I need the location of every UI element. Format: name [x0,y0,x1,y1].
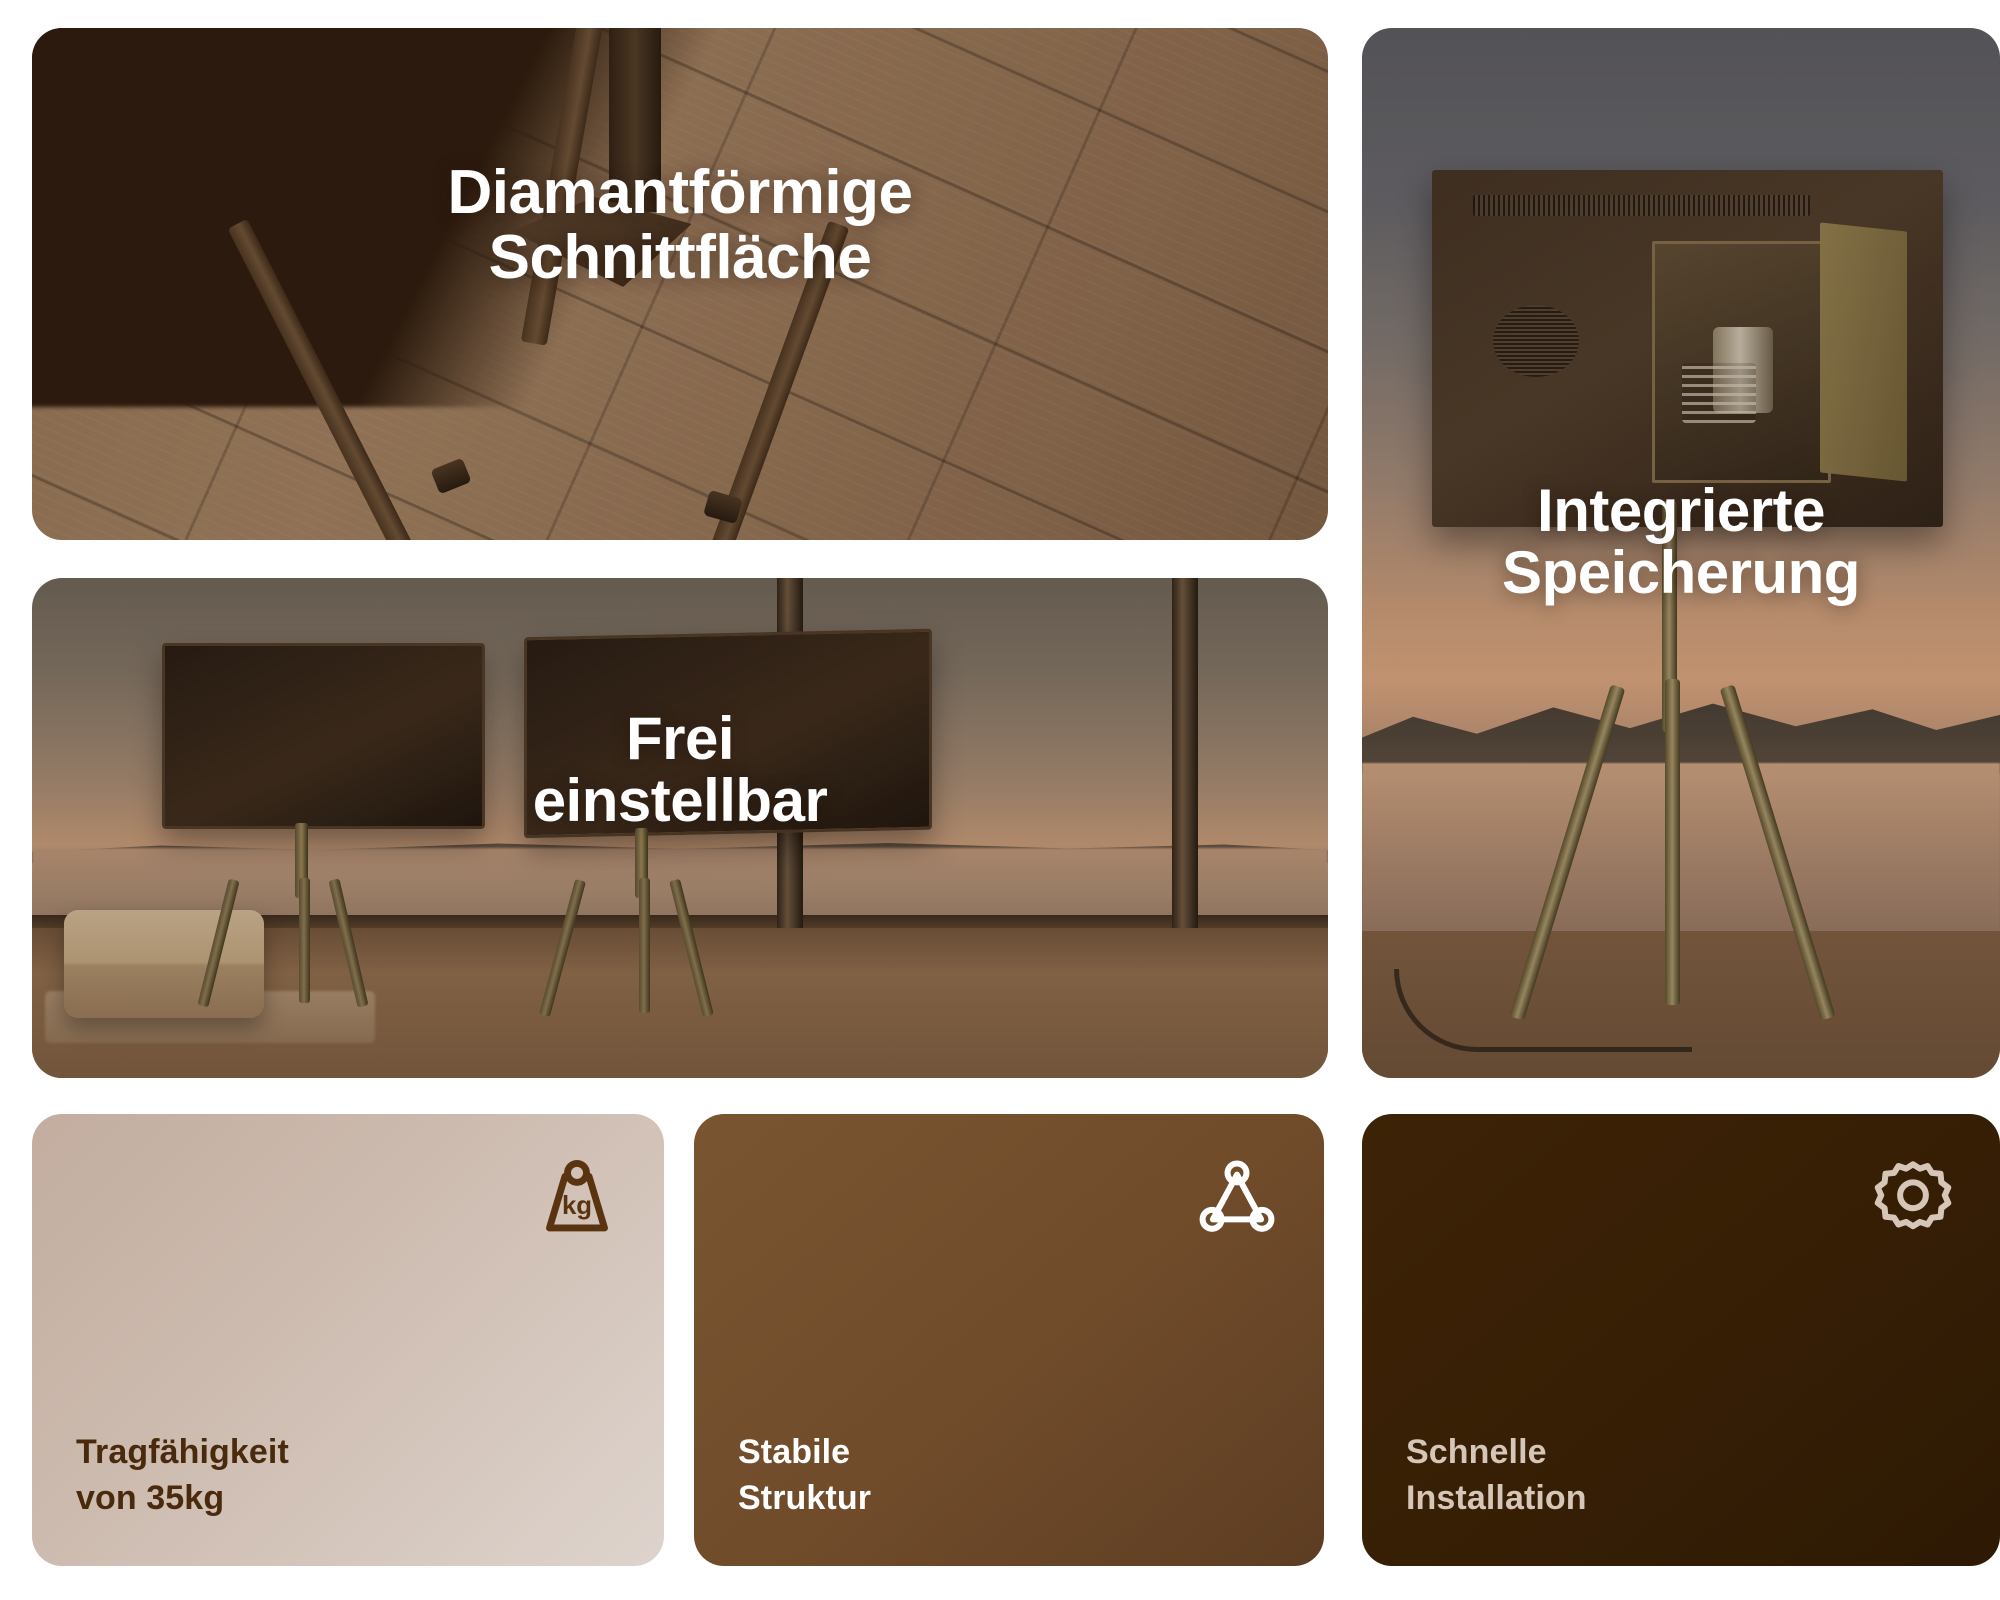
weight-kg-icon-label: kg [562,1192,592,1220]
hero-card-diamond-cut[interactable]: Diamantförmige Schnittfläche [32,28,1328,540]
quick-installation-icon-row [1406,1154,1956,1240]
feature-label-stable-structure: Stabile Struktur [738,1430,1280,1522]
hero-headline-diamond-cut: Diamantförmige Schnittfläche [136,161,1225,290]
feature-grid-page: Diamantförmige Schnittfläche [0,0,2000,1600]
load-capacity-icon-row: kg [76,1154,620,1240]
gear-icon [1870,1154,1956,1240]
card-grid: Diamantförmige Schnittfläche [32,28,1970,1566]
hero-card-integrated-storage[interactable]: Integrierte Speicherung [1362,28,2000,1078]
feature-card-load-capacity[interactable]: kg Tragfähigkeit von 35kg [32,1114,664,1566]
hero-card-freely-adjustable[interactable]: Frei einstellbar [32,578,1328,1078]
feature-card-quick-installation[interactable]: Schnelle Installation [1362,1114,2000,1566]
hero-headline-integrated-storage: Integrierte Speicherung [1388,480,1975,605]
feature-label-quick-installation: Schnelle Installation [1406,1430,1956,1522]
feature-label-load-capacity: Tragfähigkeit von 35kg [76,1430,620,1522]
feature-card-stable-structure[interactable]: Stabile Struktur [694,1114,1324,1566]
weight-kg-icon: kg [534,1154,620,1240]
stable-structure-icon-row [738,1154,1280,1240]
hero-headline-freely-adjustable: Frei einstellbar [162,708,1199,833]
triangle-nodes-icon [1194,1154,1280,1240]
